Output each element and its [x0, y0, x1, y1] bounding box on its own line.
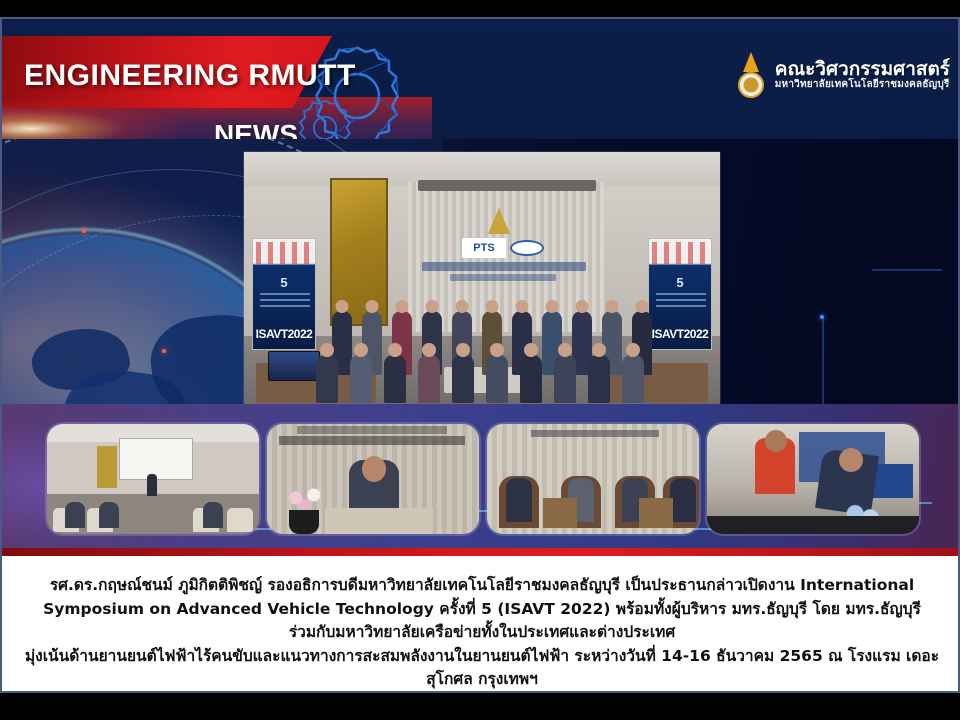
slide-frame: PTS 5 ISAVT2022 5 ISAVT2022 — [0, 17, 960, 693]
gear-icon — [294, 97, 356, 139]
person — [384, 355, 406, 403]
person — [316, 355, 338, 403]
circuit-node — [820, 315, 824, 319]
rmutt-emblem-icon — [734, 52, 768, 98]
red-divider-bar — [2, 548, 960, 556]
person — [520, 355, 542, 403]
emblem-seal-inner — [743, 78, 758, 93]
header-banner: ENGINEERING RMUTT NEWS คณะวิศวกรรมศาสตร์… — [2, 19, 960, 139]
rmutt-logo: คณะวิศวกรรมศาสตร์ มหาวิทยาลัยเทคโนโลยีรา… — [734, 49, 950, 101]
person — [554, 355, 576, 403]
page-subtitle: NEWS — [214, 119, 298, 139]
caption-line-3: ร่วมกับมหาวิทยาลัยเครือข่ายทั้งในประเทศแ… — [16, 621, 948, 645]
side-table — [639, 498, 673, 528]
person — [452, 355, 474, 403]
speaker-head — [362, 456, 386, 482]
caption-line-5: สุโกศล กรุงเทพฯ — [16, 668, 948, 692]
partner-logo — [510, 240, 544, 256]
news-slide: PTS 5 ISAVT2022 5 ISAVT2022 — [0, 0, 960, 720]
emblem-crown — [743, 52, 759, 72]
audience-person — [203, 502, 223, 528]
person — [622, 355, 644, 403]
thumbnail-registration-desk — [707, 424, 919, 534]
gold-door — [97, 446, 117, 488]
projection-screen — [119, 438, 193, 480]
thumbnail-speaker-podium — [267, 424, 479, 534]
person — [350, 355, 372, 403]
panelist — [670, 478, 696, 522]
university-name: มหาวิทยาลัยเทคโนโลยีราชมงคลธัญบุรี — [775, 80, 950, 91]
desk-surface — [707, 516, 919, 534]
page-title: ENGINEERING RMUTT — [24, 59, 356, 93]
person — [486, 355, 508, 403]
circuit-trace — [872, 269, 942, 271]
thumbnail-conference-hall — [47, 424, 259, 534]
vase — [289, 510, 319, 534]
backdrop-date-text — [297, 426, 447, 434]
audience-person — [65, 502, 85, 528]
hero-photo: PTS 5 ISAVT2022 5 ISAVT2022 — [244, 152, 720, 409]
podium — [325, 508, 433, 534]
backdrop-venue-text — [531, 430, 659, 437]
logo-text-block: คณะวิศวกรรมศาสตร์ มหาวิทยาลัยเทคโนโลยีรา… — [775, 60, 950, 90]
emblem-seal — [738, 72, 764, 98]
caption-line-1: รศ.ดร.กฤษณ์ชนม์ ภูมิกิตติพิชญ์ รองอธิการ… — [16, 574, 948, 598]
person — [418, 355, 440, 403]
panelist — [506, 478, 532, 522]
projector-screen-case — [418, 180, 596, 191]
side-table — [543, 498, 577, 528]
group-of-attendees-front-row — [244, 283, 720, 403]
staff-person-head — [765, 430, 787, 452]
faculty-name: คณะวิศวกรรมศาสตร์ — [775, 60, 950, 80]
attendee-head — [839, 448, 863, 472]
backdrop-venue-text — [279, 436, 465, 445]
circuit-node — [162, 349, 166, 353]
circuit-node — [82, 229, 86, 233]
person — [588, 355, 610, 403]
thumbnail-panel-discussion — [487, 424, 699, 534]
caption-line-4: มุ่งเน้นด้านยานยนต์ไฟฟ้าไร้คนขับและแนวทา… — [16, 645, 948, 669]
speaker-person — [147, 474, 157, 496]
caption-block: รศ.ดร.กฤษณ์ชนม์ ภูมิกิตติพิชญ์ รองอธิการ… — [2, 556, 960, 693]
chair — [227, 508, 253, 532]
audience-person — [99, 502, 119, 528]
caption-line-2: Symposium on Advanced Vehicle Technology… — [16, 598, 948, 622]
